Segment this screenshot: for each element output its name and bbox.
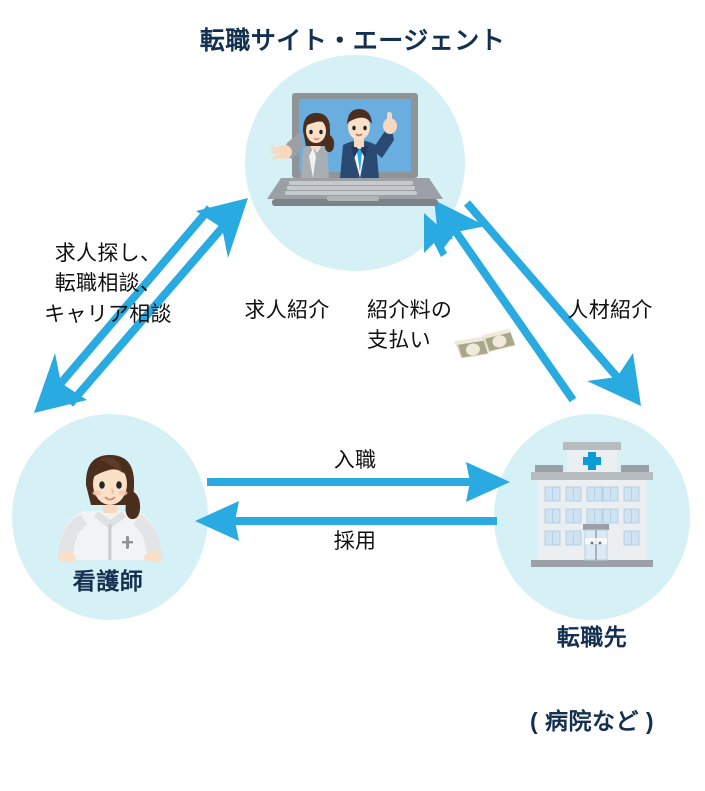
edge-label-agent-to-hospital: 人材紹介 <box>540 296 680 326</box>
node-label-hospital: 転職先 ( 病院など ) <box>482 567 702 791</box>
node-label-hospital-line2: ( 病院など ) <box>482 707 702 735</box>
edge-label-agent-to-nurse: 求人紹介 <box>222 296 352 326</box>
diagram-canvas: 転職サイト・エージェント 看護師 転職先 ( 病院など ) 求人探し、 転職相談… <box>0 0 705 660</box>
edge-label-nurse-to-agent: 求人探し、 転職相談、 キャリア相談 <box>0 239 216 330</box>
page-title: 転職サイト・エージェント <box>0 26 705 57</box>
edge-label-hospital-to-nurse: 採用 <box>285 527 425 557</box>
node-label-hospital-line1: 転職先 <box>482 623 702 651</box>
edge-label-nurse-to-hospital: 入職 <box>285 446 425 476</box>
node-label-nurse: 看護師 <box>8 567 208 595</box>
edge-label-hospital-to-agent: 紹介料の 支払い <box>367 296 487 357</box>
